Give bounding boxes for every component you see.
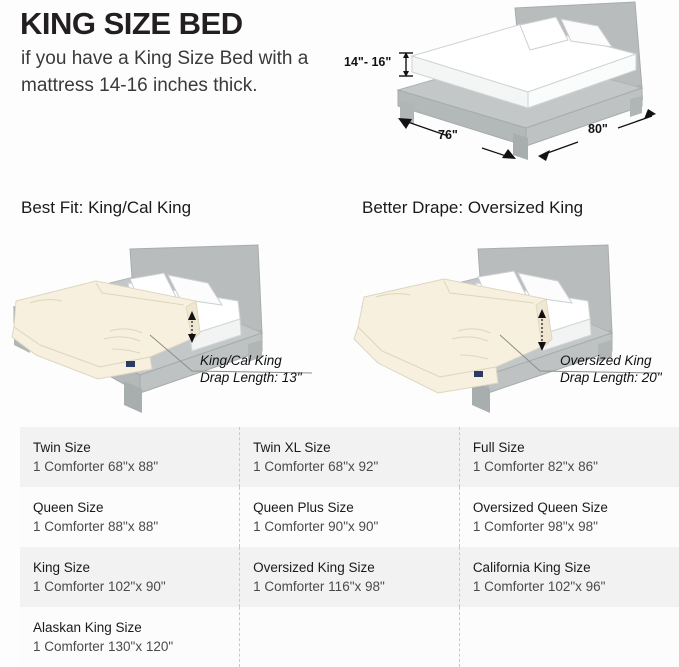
table-cell: Twin Size 1 Comforter 68"x 88": [20, 427, 240, 487]
size-spec: 1 Comforter 102"x 96": [473, 579, 679, 594]
best-fit-drape-note-line2: Drap Length: 13": [200, 369, 302, 386]
mattress-height-label: 14"- 16": [344, 55, 391, 69]
page-subtitle: if you have a King Size Bed with a mattr…: [21, 45, 321, 99]
table-cell-empty: [240, 607, 460, 667]
hero-bed-diagram: [330, 0, 679, 185]
table-row: Alaskan King Size 1 Comforter 130"x 120": [20, 607, 679, 667]
section-title-better-drape: Better Drape: Oversized King: [362, 198, 583, 218]
table-cell: Queen Size 1 Comforter 88"x 88": [20, 487, 240, 547]
size-name: Oversized King Size: [253, 560, 459, 575]
size-name: Full Size: [473, 440, 679, 455]
table-row: King Size 1 Comforter 102"x 90" Oversize…: [20, 547, 679, 607]
size-spec: 1 Comforter 68"x 88": [33, 459, 239, 474]
table-cell: Twin XL Size 1 Comforter 68"x 92": [240, 427, 460, 487]
better-drape-note-line2: Drap Length: 20": [560, 369, 662, 386]
size-name: Queen Size: [33, 500, 239, 515]
size-name: Oversized Queen Size: [473, 500, 679, 515]
size-spec: 1 Comforter 130"x 120": [33, 639, 239, 654]
size-spec: 1 Comforter 90"x 90": [253, 519, 459, 534]
table-cell: Full Size 1 Comforter 82"x 86": [459, 427, 679, 487]
size-name: California King Size: [473, 560, 679, 575]
table-cell: Oversized Queen Size 1 Comforter 98"x 98…: [459, 487, 679, 547]
page-title: KING SIZE BED: [20, 6, 243, 42]
best-fit-drape-note: King/Cal King Drap Length: 13": [200, 352, 302, 386]
table-cell: Queen Plus Size 1 Comforter 90"x 90": [240, 487, 460, 547]
best-fit-bed-illustration: [0, 235, 340, 420]
bed-depth-label: 80": [588, 122, 608, 136]
table-cell-empty: [459, 607, 679, 667]
size-name: Twin XL Size: [253, 440, 459, 455]
section-title-best-fit: Best Fit: King/Cal King: [21, 198, 191, 218]
size-spec: 1 Comforter 82"x 86": [473, 459, 679, 474]
table-cell: California King Size 1 Comforter 102"x 9…: [459, 547, 679, 607]
size-name: Twin Size: [33, 440, 239, 455]
infographic-page: KING SIZE BED if you have a King Size Be…: [0, 0, 679, 667]
size-spec: 1 Comforter 102"x 90": [33, 579, 239, 594]
size-name: Queen Plus Size: [253, 500, 459, 515]
size-name: King Size: [33, 560, 239, 575]
better-drape-note: Oversized King Drap Length: 20": [560, 352, 662, 386]
table-cell: King Size 1 Comforter 102"x 90": [20, 547, 240, 607]
best-fit-drape-note-line1: King/Cal King: [200, 352, 302, 369]
better-drape-bed-illustration: [340, 235, 679, 420]
size-spec: 1 Comforter 98"x 98": [473, 519, 679, 534]
comforter-size-table: Twin Size 1 Comforter 68"x 88" Twin XL S…: [20, 427, 679, 667]
table-row: Twin Size 1 Comforter 68"x 88" Twin XL S…: [20, 427, 679, 487]
table-cell: Oversized King Size 1 Comforter 116"x 98…: [240, 547, 460, 607]
bed-width-label: 76": [438, 128, 458, 142]
size-name: Alaskan King Size: [33, 620, 239, 635]
size-spec: 1 Comforter 68"x 92": [253, 459, 459, 474]
better-drape-note-line1: Oversized King: [560, 352, 662, 369]
size-spec: 1 Comforter 116"x 98": [253, 579, 459, 594]
table-cell: Alaskan King Size 1 Comforter 130"x 120": [20, 607, 240, 667]
size-spec: 1 Comforter 88"x 88": [33, 519, 239, 534]
table-row: Queen Size 1 Comforter 88"x 88" Queen Pl…: [20, 487, 679, 547]
